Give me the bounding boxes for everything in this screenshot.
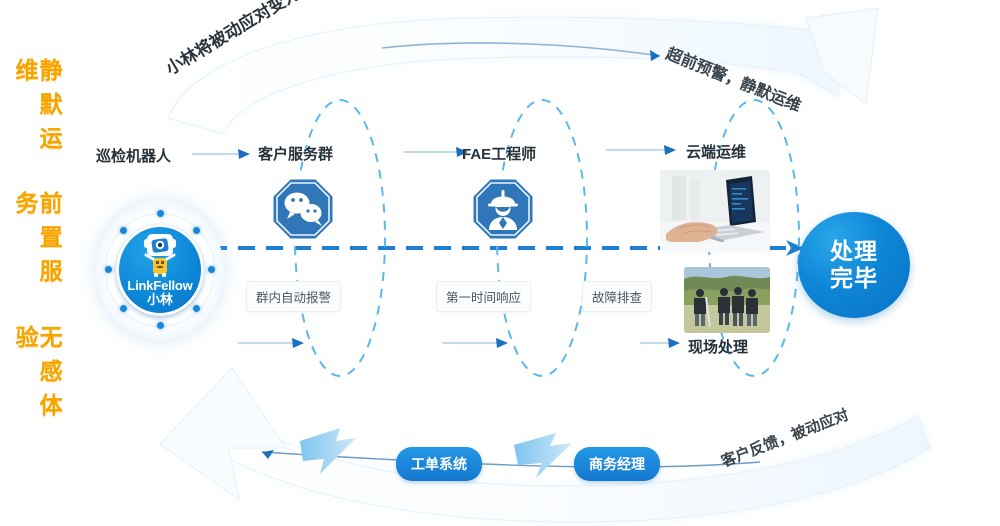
flow-upper-label-1: FAE工程师 xyxy=(462,143,536,164)
vertical-slogan: 静默运维 前置服务 无感体验 xyxy=(14,58,58,458)
slogan-line-1: 静默运维 xyxy=(12,58,60,191)
logo-dot-ne xyxy=(193,227,200,234)
slogan-line-2: 前置服务 xyxy=(12,191,60,324)
caption-box-0: 群内自动报警 xyxy=(246,281,341,312)
logo-dot-se xyxy=(193,305,200,312)
flow-upper-label-2: 云端运维 xyxy=(686,141,746,162)
result-line-1: 处理 xyxy=(830,238,878,265)
logo-dot-s xyxy=(157,322,164,329)
flow-upper-label-0: 客户服务群 xyxy=(258,143,333,164)
result-badge[interactable]: 处理 完毕 xyxy=(798,212,910,318)
logo-dot-sw xyxy=(120,305,127,312)
laptop-photo xyxy=(660,170,770,252)
bottom-arrow-2 xyxy=(514,433,572,478)
logo-core: LinkFellow 小林 xyxy=(116,224,204,316)
logo-dot-e xyxy=(208,266,215,273)
robot-mascot-icon xyxy=(142,233,178,282)
logo-name: 小林 xyxy=(147,292,173,307)
logo-dot-nw xyxy=(120,227,127,234)
engineer-icon[interactable] xyxy=(470,176,536,242)
wechat-icon[interactable] xyxy=(270,176,336,242)
fieldwork-photo xyxy=(684,267,770,333)
linkfellow-logo[interactable]: LinkFellow 小林 xyxy=(96,200,224,340)
infographic-canvas: 静默运维 前置服务 无感体验 xyxy=(0,0,1000,526)
caption-box-2: 故障排查 xyxy=(582,281,652,312)
flow-start-label: 巡检机器人 xyxy=(96,145,171,166)
flow-lower-label-3: 现场处理 xyxy=(688,336,748,357)
pill-business-manager[interactable]: 商务经理 xyxy=(574,447,660,481)
logo-dot-n xyxy=(157,210,164,217)
result-line-2: 完毕 xyxy=(830,265,878,292)
bottom-arc-arrowhead xyxy=(160,368,286,500)
slogan-line-3: 无感体验 xyxy=(12,325,60,458)
pill-ticket-system[interactable]: 工单系统 xyxy=(396,447,482,481)
logo-dot-w xyxy=(105,266,112,273)
caption-box-1: 第一时间响应 xyxy=(436,281,531,312)
